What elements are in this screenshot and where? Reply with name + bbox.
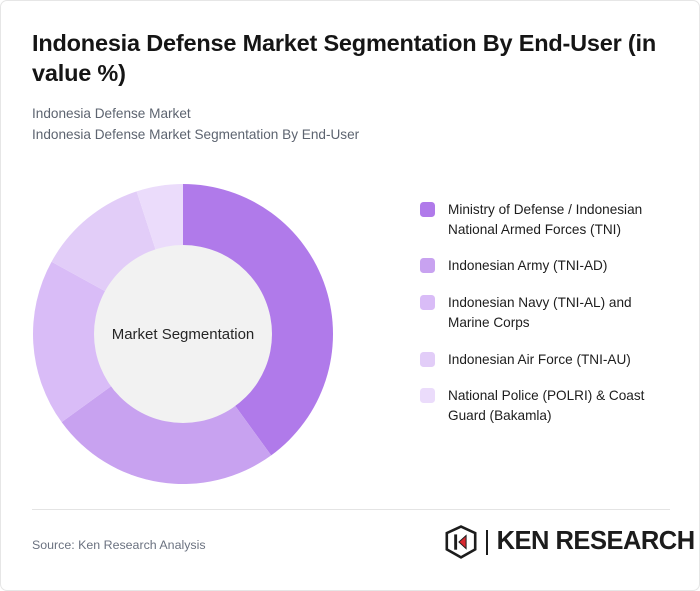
donut-center-circle <box>94 245 272 423</box>
legend-color-swatch <box>420 295 435 310</box>
legend-color-swatch <box>420 202 435 217</box>
legend-color-swatch <box>420 352 435 367</box>
legend-item[interactable]: Indonesian Air Force (TNI-AU) <box>420 350 672 370</box>
legend-item[interactable]: Indonesian Army (TNI-AD) <box>420 256 672 276</box>
legend-color-swatch <box>420 388 435 403</box>
legend-item[interactable]: Indonesian Navy (TNI-AL) and Marine Corp… <box>420 293 672 332</box>
chart-legend: Ministry of Defense / Indonesian Nationa… <box>420 200 672 426</box>
source-note: Source: Ken Research Analysis <box>32 538 206 552</box>
brand-divider <box>486 530 488 555</box>
footer-divider <box>32 509 670 510</box>
brand-logo: KEN RESEARCH <box>444 525 695 559</box>
chart-header: Indonesia Defense Market Segmentation By… <box>32 29 672 146</box>
legend-item[interactable]: Ministry of Defense / Indonesian Nationa… <box>420 200 672 239</box>
subtitle-block: Indonesia Defense Market Indonesia Defen… <box>32 104 672 145</box>
ken-research-badge-icon <box>444 525 478 559</box>
legend-item-label: Indonesian Air Force (TNI-AU) <box>448 350 631 370</box>
subtitle-secondary: Indonesia Defense Market Segmentation By… <box>32 125 672 146</box>
page-title: Indonesia Defense Market Segmentation By… <box>32 29 672 88</box>
chart-card: Indonesia Defense Market Segmentation By… <box>0 0 700 591</box>
donut-chart: Market Segmentation <box>29 180 337 488</box>
legend-item-label: Indonesian Navy (TNI-AL) and Marine Corp… <box>448 293 672 332</box>
subtitle-primary: Indonesia Defense Market <box>32 104 672 125</box>
legend-item[interactable]: National Police (POLRI) & Coast Guard (B… <box>420 386 672 425</box>
donut-chart-svg <box>29 180 337 488</box>
brand-wordmark: KEN RESEARCH <box>497 529 695 555</box>
legend-item-label: Ministry of Defense / Indonesian Nationa… <box>448 200 672 239</box>
legend-color-swatch <box>420 258 435 273</box>
legend-item-label: National Police (POLRI) & Coast Guard (B… <box>448 386 672 425</box>
legend-item-label: Indonesian Army (TNI-AD) <box>448 256 607 276</box>
